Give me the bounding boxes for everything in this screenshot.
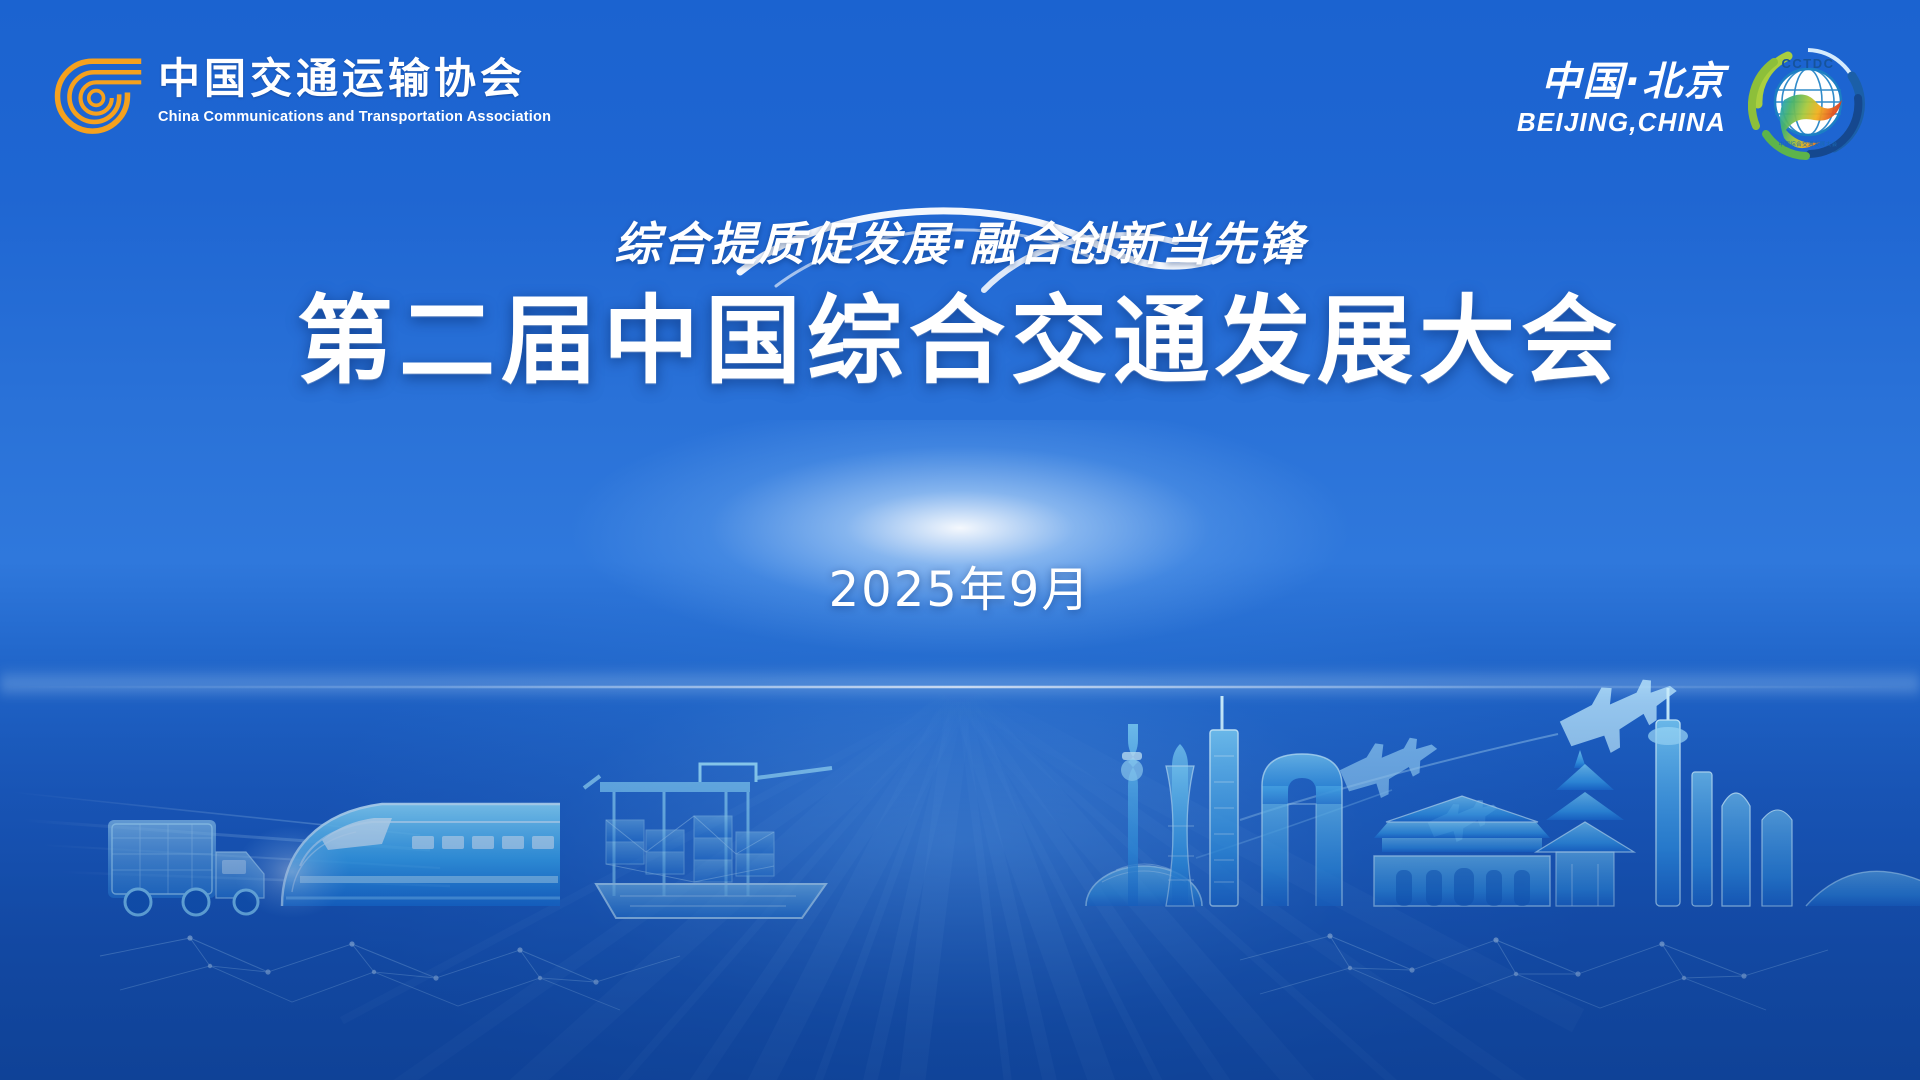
location-city-en: BEIJING,CHINA: [1517, 107, 1726, 138]
light-ray: [954, 681, 1584, 1033]
svg-text:CCTDC: CCTDC: [1782, 56, 1835, 71]
slogan-block: 综合提质促发展·融合创新当先锋: [0, 208, 1920, 288]
association-branding: 中国交通运输协会 China Communications and Transp…: [52, 52, 551, 144]
light-ray: [383, 686, 964, 1080]
cargo-ship-port-icon: [584, 764, 832, 918]
conference-title: 第二届中国综合交通发展大会: [0, 288, 1920, 396]
cctv-headquarters: [1262, 754, 1342, 906]
light-ray: [796, 690, 967, 1080]
speed-streaks: [10, 792, 450, 886]
light-ray: [717, 691, 964, 1080]
cctdc-globe-emblem-icon: CCTDC 中国综合交通发展大会: [1748, 42, 1868, 162]
location-city-cn: 中国·北京: [1517, 61, 1726, 103]
truck-icon: [108, 820, 264, 915]
ground-network-nodes: [187, 933, 1746, 984]
horizon-haze-band: [0, 666, 1920, 700]
conference-date: 2025年9月: [0, 550, 1920, 620]
light-ray: [954, 688, 1357, 1080]
association-name-cn: 中国交通运输协会: [158, 58, 551, 100]
light-ray: [957, 689, 1483, 1080]
olympic-tower: [1648, 688, 1792, 906]
temple-of-heaven: [1536, 750, 1634, 906]
light-ray: [953, 690, 1124, 1080]
light-ray: [631, 686, 972, 1080]
airplane-icon: [1196, 675, 1684, 858]
beijing-skyline-icon: [1086, 688, 1920, 906]
light-ray: [862, 690, 973, 1080]
conference-slogan: 综合提质促发展·融合创新当先锋: [614, 208, 1305, 274]
high-speed-train-icon: [234, 804, 560, 918]
light-ray: [956, 686, 1537, 1080]
china-zun-tower: [1121, 724, 1143, 906]
ccta-spiral-logo-icon: [52, 52, 144, 144]
light-ray: [956, 692, 1049, 1080]
bottom-vignette: [0, 660, 1920, 1080]
location-branding: 中国·北京 BEIJING,CHINA: [1517, 42, 1868, 162]
light-ray: [956, 690, 1281, 1080]
light-ray: [948, 688, 1212, 1080]
ground-network-mesh: [100, 936, 1828, 1010]
light-ray: [498, 689, 963, 1080]
svg-text:中国综合交通发展大会: 中国综合交通发展大会: [1778, 140, 1837, 148]
forbidden-city-gate: [1374, 796, 1550, 906]
light-ray: [431, 682, 969, 1080]
association-name-en: China Communications and Transportation …: [158, 109, 551, 125]
conference-banner: 中国交通运输协会 China Communications and Transp…: [0, 0, 1920, 1080]
light-ray: [340, 688, 962, 1024]
light-ray: [563, 688, 966, 1080]
horizon-line: [0, 686, 1920, 688]
light-ray: [950, 683, 1429, 1080]
